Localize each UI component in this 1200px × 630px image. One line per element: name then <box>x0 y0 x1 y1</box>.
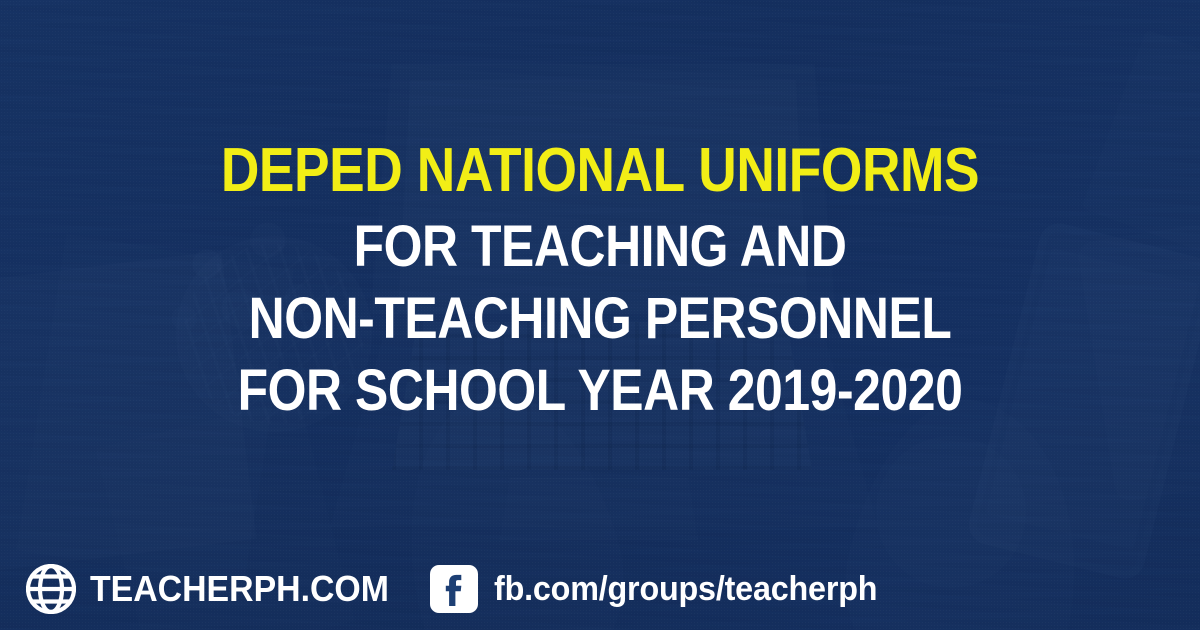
promo-banner: DEPED NATIONAL UNIFORMS FOR TEACHING AND… <box>0 0 1200 630</box>
globe-icon <box>26 564 76 614</box>
website-label[interactable]: TEACHERPH.COM <box>90 568 389 610</box>
facebook-url-label[interactable]: fb.com/groups/teacherph <box>494 570 877 609</box>
headline-line-2: FOR TEACHING AND <box>84 218 1116 276</box>
facebook-f-glyph <box>430 565 478 613</box>
facebook-icon[interactable] <box>430 565 478 613</box>
headline-block: DEPED NATIONAL UNIFORMS FOR TEACHING AND… <box>0 140 1200 420</box>
footer-bar: TEACHERPH.COM fb.com/groups/teacherph <box>26 564 897 614</box>
headline-line-1: DEPED NATIONAL UNIFORMS <box>84 140 1116 202</box>
headline-line-4: FOR SCHOOL YEAR 2019-2020 <box>84 362 1116 420</box>
headline-line-3: NON-TEACHING PERSONNEL <box>84 290 1116 348</box>
